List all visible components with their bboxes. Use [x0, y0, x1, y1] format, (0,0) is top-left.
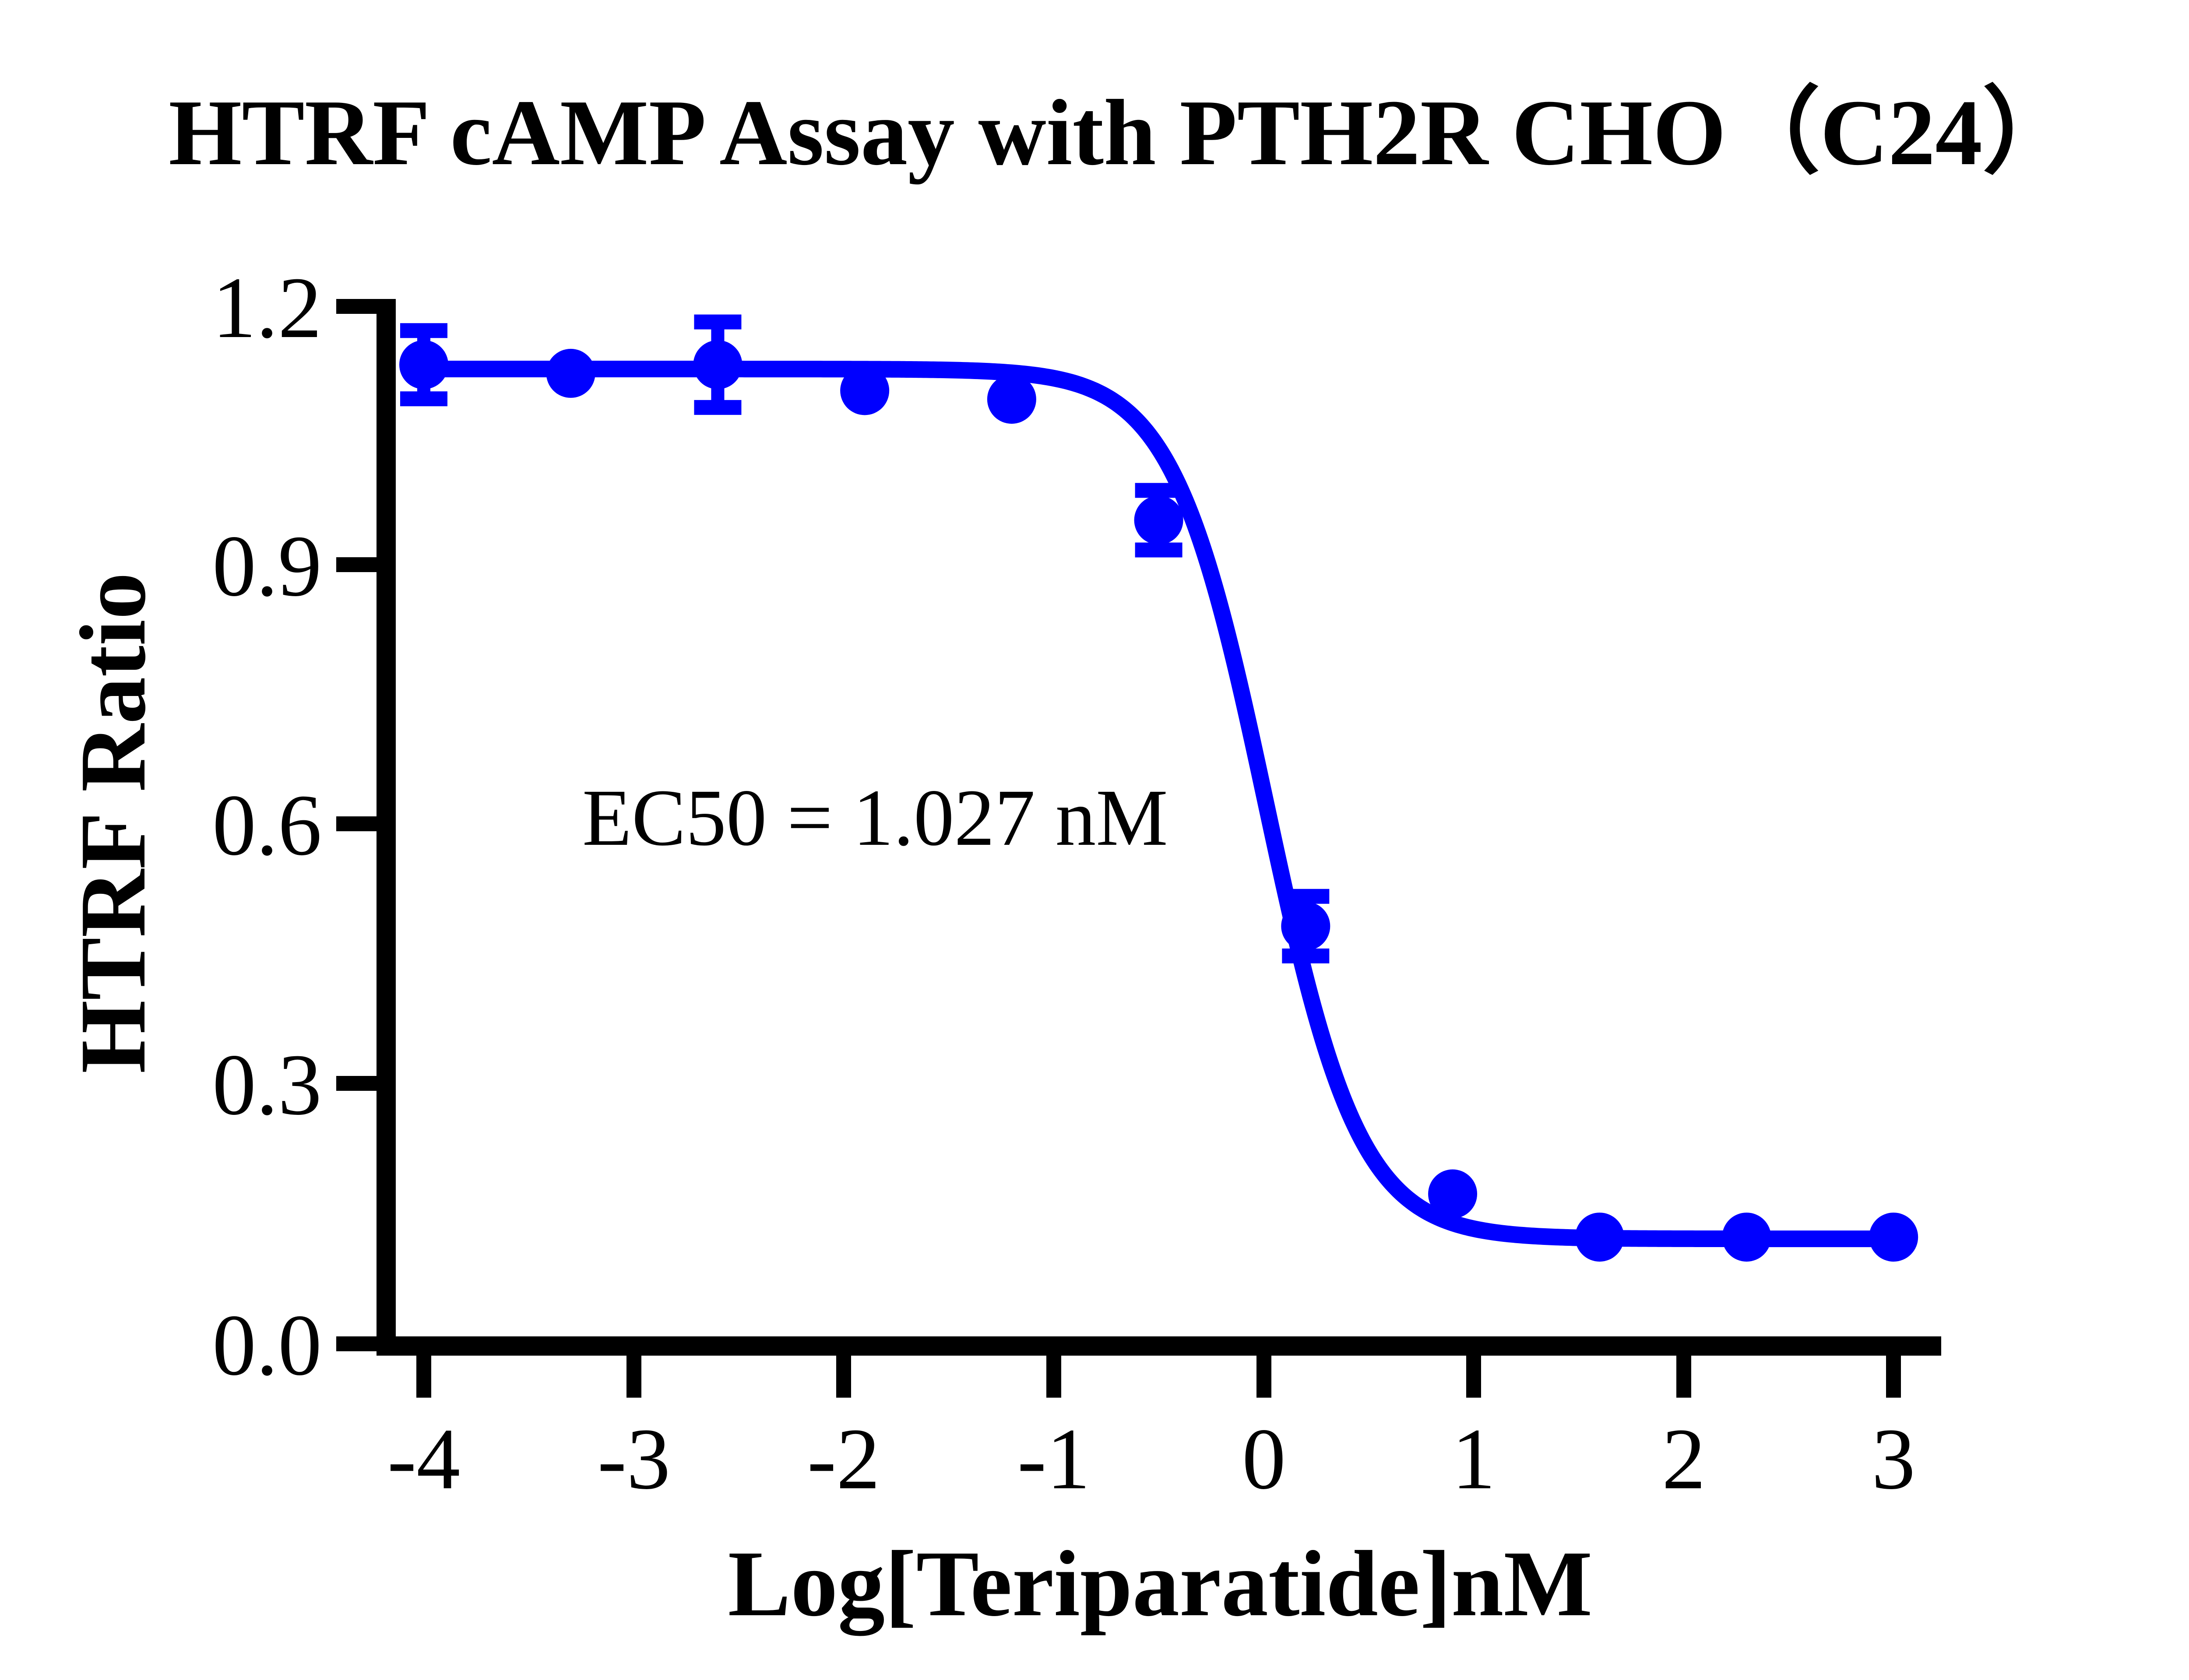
- data-point-marker: [1722, 1213, 1771, 1262]
- x-tick-3: [1886, 1356, 1901, 1398]
- x-tick-label-1: 1: [1452, 1411, 1496, 1508]
- y-axis-title: HTRF Ratio: [60, 573, 165, 1074]
- x-axis-spine: [377, 1336, 1941, 1356]
- data-point-marker: [1869, 1213, 1918, 1262]
- x-tick-label-neg3: -3: [598, 1411, 671, 1508]
- x-axis-ticks: [416, 1356, 1901, 1398]
- x-tick-label-neg1: -1: [1017, 1411, 1091, 1508]
- data-point-marker: [1575, 1213, 1624, 1262]
- x-tick-label-neg4: -4: [387, 1411, 461, 1508]
- y-axis-spine: [377, 299, 396, 1346]
- x-tick-2: [1676, 1356, 1691, 1398]
- x-tick-1: [1466, 1356, 1481, 1398]
- data-point-marker: [693, 340, 742, 389]
- x-tick-neg4: [416, 1356, 431, 1398]
- data-point-marker: [840, 366, 889, 415]
- y-tick-label-0-3: 0.3: [212, 1037, 322, 1133]
- x-tick-label-neg2: -2: [807, 1411, 880, 1508]
- x-tick-neg2: [836, 1356, 851, 1398]
- y-axis-ticks: [336, 299, 378, 1351]
- y-tick-0-6: [336, 816, 378, 831]
- x-tick-0: [1256, 1356, 1271, 1398]
- y-tick-label-0-9: 0.9: [212, 518, 322, 615]
- x-tick-label-3: 3: [1872, 1411, 1915, 1508]
- data-point-marker: [546, 349, 595, 398]
- y-tick-1-2: [336, 299, 378, 314]
- x-tick-neg3: [626, 1356, 641, 1398]
- data-point-marker: [1134, 496, 1183, 545]
- error-bar-cap-lower: [400, 391, 447, 406]
- error-bar-cap-lower: [1282, 949, 1329, 963]
- x-tick-label-2: 2: [1662, 1411, 1706, 1508]
- data-point-marker: [987, 375, 1036, 424]
- y-tick-label-1-2: 1.2: [212, 260, 322, 356]
- error-bar-cap-lower: [694, 400, 741, 415]
- data-point-marker: [399, 340, 448, 389]
- y-tick-0-0: [336, 1336, 378, 1351]
- data-point-marker: [1281, 902, 1330, 951]
- y-tick-0-9: [336, 557, 378, 572]
- y-axis-tick-labels: 1.2 0.9 0.6 0.3 0.0: [212, 260, 322, 1394]
- chart-figure: HTRF cAMP Assay with PTH2R CHO（C24） 1.2 …: [0, 0, 2189, 1680]
- y-tick-0-3: [336, 1076, 378, 1091]
- ec50-annotation: EC50 = 1.027 nM: [582, 773, 1168, 863]
- plot-area: 1.2 0.9 0.6 0.3 0.0 -4 -3 -2 -1 0 1 2 3: [0, 0, 2189, 1680]
- error-bar-cap-upper: [1282, 889, 1329, 904]
- error-bar-cap-upper: [400, 323, 447, 338]
- x-axis-tick-labels: -4 -3 -2 -1 0 1 2 3: [387, 1411, 1915, 1508]
- x-axis-title: Log[Teriparatide]nM: [728, 1531, 1593, 1636]
- error-bar-cap-upper: [1135, 483, 1182, 498]
- y-tick-label-0-0: 0.0: [212, 1297, 322, 1394]
- x-tick-label-0: 0: [1242, 1411, 1286, 1508]
- data-point-marker: [1428, 1170, 1477, 1219]
- error-bar-cap-lower: [1135, 542, 1182, 557]
- error-bar-cap-upper: [694, 315, 741, 330]
- x-tick-neg1: [1046, 1356, 1061, 1398]
- y-tick-label-0-6: 0.6: [212, 777, 322, 874]
